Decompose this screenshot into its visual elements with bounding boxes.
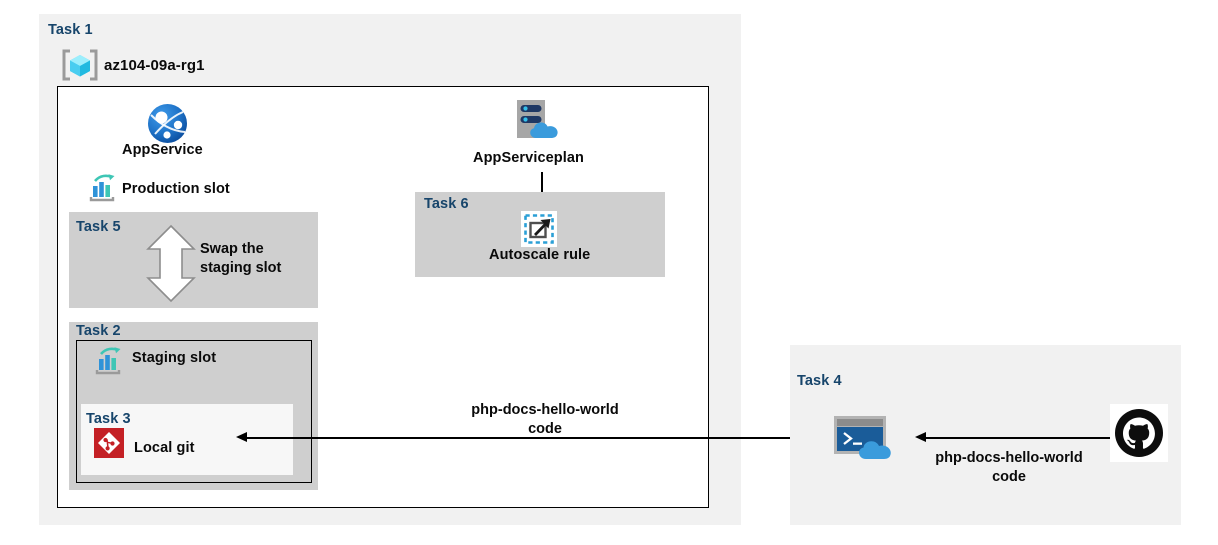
task6-label: Task 6: [424, 196, 469, 212]
resource-group-icon: [60, 48, 100, 82]
app-service-plan-label: AppServiceplan: [473, 150, 584, 166]
github-to-cloudshell-arrow-line: [925, 437, 1110, 439]
production-slot-label: Production slot: [122, 181, 230, 197]
task5-label: Task 5: [76, 219, 121, 235]
task1-label: Task 1: [48, 22, 93, 38]
diagram-canvas: Task 1 az104-09a-rg1: [0, 0, 1218, 545]
github-edge-label: php-docs-hello-world code: [901, 449, 1117, 487]
swap-double-arrow-icon: [144, 224, 198, 308]
deployment-slot-icon-staging: [94, 345, 124, 380]
git-icon: [94, 428, 124, 463]
cloudshell-to-localgit-arrow-line: [247, 437, 817, 439]
task3-label: Task 3: [86, 411, 131, 427]
github-edge-label-line1: php-docs-hello-world: [901, 449, 1117, 468]
cloudshell-to-localgit-arrow-head: [236, 432, 247, 442]
staging-slot-label: Staging slot: [132, 350, 216, 366]
app-service-plan-icon: [514, 98, 564, 148]
cloud-shell-icon: [833, 415, 901, 466]
code-edge-label: php-docs-hello-world code: [437, 401, 653, 439]
autoscale-rule-label: Autoscale rule: [489, 247, 590, 263]
github-to-cloudshell-arrow-head: [915, 432, 926, 442]
app-service-label: AppService: [122, 142, 203, 158]
deployment-slot-icon-production: [88, 172, 118, 207]
local-git-label: Local git: [134, 440, 195, 456]
autoscale-icon: [521, 211, 557, 252]
github-edge-label-line2: code: [901, 468, 1117, 487]
swap-label-line2: staging slot: [200, 259, 310, 278]
swap-label-line1: Swap the: [200, 240, 310, 259]
swap-label: Swap the staging slot: [200, 240, 310, 278]
task2-label: Task 2: [76, 323, 121, 339]
resource-group-label: az104-09a-rg1: [104, 57, 205, 74]
task4-label: Task 4: [797, 373, 842, 389]
code-edge-label-line1: php-docs-hello-world: [437, 401, 653, 420]
github-octocat-icon: [1110, 404, 1168, 467]
